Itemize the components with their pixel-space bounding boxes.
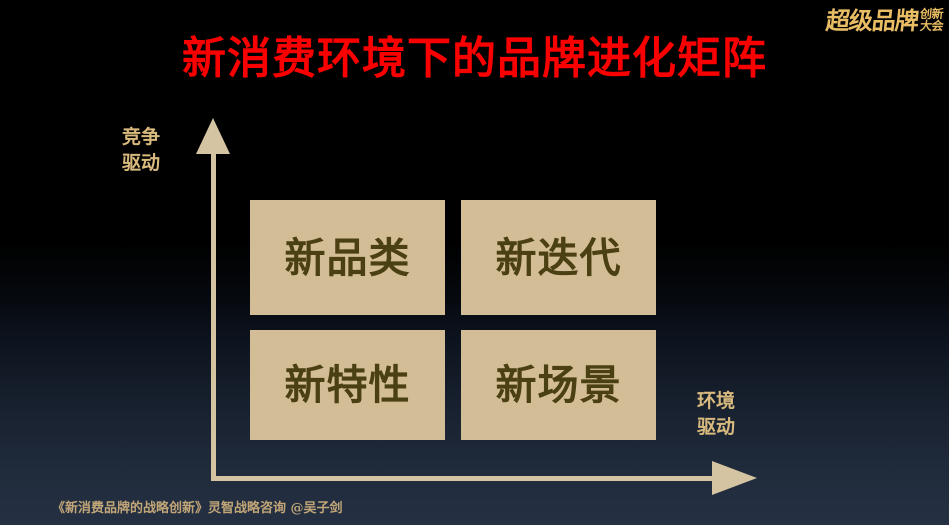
matrix-cell-label: 新迭代 [496, 234, 622, 282]
matrix-cell-label: 新特性 [285, 361, 411, 409]
axis-x-label-line-2: 驱动 [697, 414, 735, 440]
matrix-cell-bottom-right[interactable]: 新场景 [461, 330, 656, 440]
footer-attribution: 《新消费品牌的战略创新》灵智战略咨询 @吴子剑 [52, 500, 343, 518]
matrix-cell-label: 新品类 [285, 234, 411, 282]
matrix-grid: 新品类 新迭代 新特性 新场景 [250, 200, 656, 440]
axis-y-line [211, 148, 216, 481]
logo-main-text: 超级品牌 [825, 9, 920, 33]
axis-x-line [212, 476, 728, 481]
slide-canvas: 超级品牌 创新 大会 新消费环境下的品牌进化矩阵 竞争 驱动 环境 驱动 新品类… [0, 0, 949, 525]
axis-y-label-line-2: 驱动 [122, 150, 160, 176]
axis-x-label-line-1: 环境 [697, 388, 735, 414]
matrix-cell-top-left[interactable]: 新品类 [250, 200, 445, 315]
matrix-cell-top-right[interactable]: 新迭代 [461, 200, 656, 315]
logo-sub-block: 创新 大会 [920, 8, 943, 32]
axis-y-label: 竞争 驱动 [122, 124, 160, 176]
axis-x-arrowhead-icon [712, 461, 757, 495]
matrix-cell-label: 新场景 [496, 361, 622, 409]
axis-x-label: 环境 驱动 [697, 388, 735, 440]
axis-y-label-line-1: 竞争 [122, 124, 160, 150]
brand-logo: 超级品牌 创新 大会 [826, 8, 943, 33]
logo-sub-line-2: 大会 [919, 20, 943, 32]
page-title: 新消费环境下的品牌进化矩阵 [0, 33, 949, 85]
matrix-cell-bottom-left[interactable]: 新特性 [250, 330, 445, 440]
